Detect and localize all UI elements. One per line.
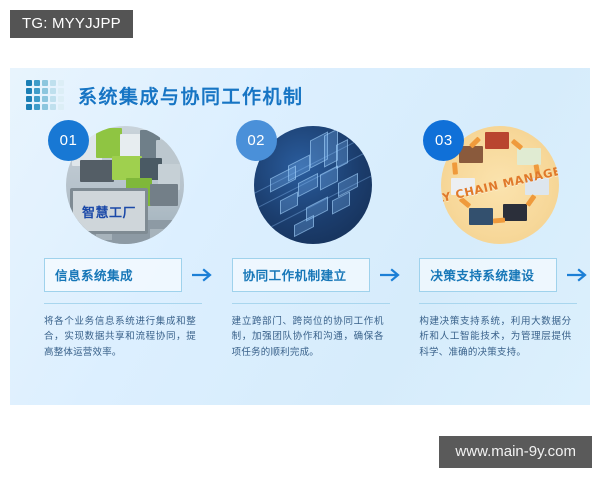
arrow-right-icon[interactable] [192, 268, 214, 282]
card-02-label[interactable]: 协同工作机制建立 [232, 258, 370, 292]
card-03-description: 构建决策支持系统，利用大数据分析和人工智能技术，为管理层提供科学、准确的决策支持… [419, 314, 571, 360]
panel-title: 系统集成与协同工作机制 [78, 82, 304, 109]
factory-display-text: 智慧工厂 [82, 202, 136, 221]
card-01-label[interactable]: 信息系统集成 [44, 258, 182, 292]
card-03-circle: SUPPLY CHAIN MANAGEMENT 03 [441, 126, 559, 244]
card-01-description: 将各个业务信息系统进行集成和整合，实现数据共享和流程协同，提高整体运营效率。 [44, 314, 196, 360]
card-03-label[interactable]: 决策支持系统建设 [419, 258, 557, 292]
card-01[interactable]: 智慧工厂 01 信息系统集成 将各个业务信息系统进行集成和整合，实现数据共享和流… [40, 126, 215, 360]
card-01-number-badge: 01 [48, 120, 89, 161]
card-02-description: 建立跨部门、跨岗位的协同工作机制，加强团队协作和沟通，确保各项任务的顺利完成。 [232, 314, 384, 360]
card-01-circle: 智慧工厂 01 [66, 126, 184, 244]
card-02[interactable]: 02 协同工作机制建立 建立跨部门、跨岗位的协同工作机制，加强团队协作和沟通，确… [228, 126, 403, 360]
panel-header: 系统集成与协同工作机制 [18, 80, 304, 110]
card-02-number-badge: 02 [236, 120, 277, 161]
arrow-right-icon[interactable] [380, 268, 402, 282]
dot-grid-decoration [26, 80, 64, 110]
card-03-divider [419, 303, 577, 304]
arrow-right-icon[interactable] [567, 268, 589, 282]
site-watermark: www.main-9y.com [439, 436, 592, 468]
card-03-label-row[interactable]: 决策支持系统建设 [419, 258, 590, 292]
card-03[interactable]: SUPPLY CHAIN MANAGEMENT 03 决策支持系统建设 构建决策… [415, 126, 590, 360]
card-02-circle: 02 [254, 126, 372, 244]
tg-watermark: TG: MYYJJPP [10, 10, 133, 38]
content-panel: 系统集成与协同工作机制 [10, 68, 590, 405]
factory-display: 智慧工厂 [70, 188, 148, 234]
card-01-divider [44, 303, 202, 304]
card-02-divider [232, 303, 390, 304]
slide-canvas: TG: MYYJJPP 系统集成与协同工作机制 [0, 0, 600, 480]
card-02-label-row[interactable]: 协同工作机制建立 [232, 258, 403, 292]
card-01-label-row[interactable]: 信息系统集成 [44, 258, 215, 292]
cards-row: 智慧工厂 01 信息系统集成 将各个业务信息系统进行集成和整合，实现数据共享和流… [10, 126, 590, 360]
